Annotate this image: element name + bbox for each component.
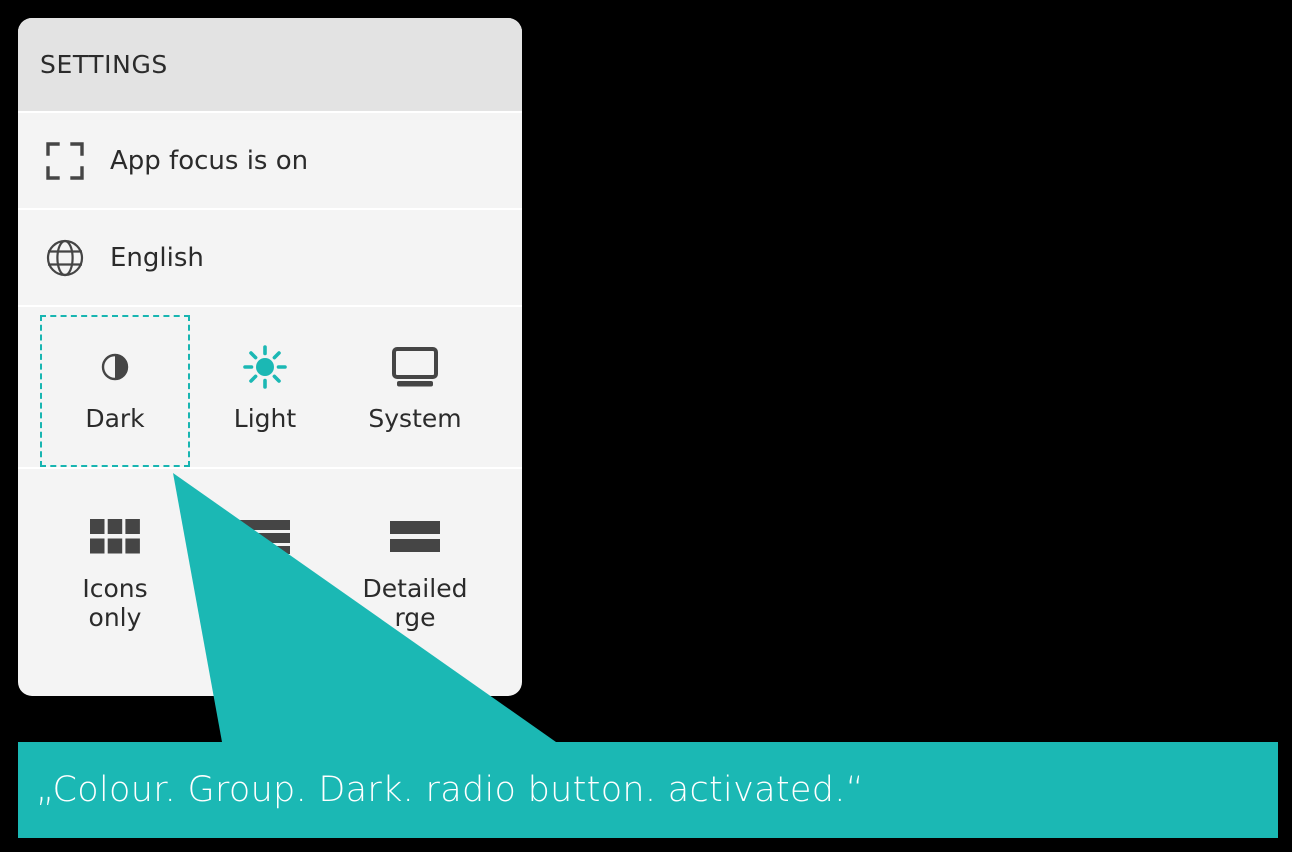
radio-option-light-label: Light — [234, 405, 296, 434]
setting-row-app-focus-label: App focus is on — [110, 146, 308, 176]
radio-option-dark[interactable]: Dark — [40, 315, 190, 467]
moon-icon — [97, 339, 133, 395]
radio-option-dark-label: Dark — [85, 405, 144, 434]
setting-row-language[interactable]: English — [18, 210, 522, 305]
radio-option-light[interactable]: Light — [190, 315, 340, 467]
setting-row-language-label: English — [110, 243, 204, 273]
radio-option-icons-only[interactable]: Icons only — [40, 485, 190, 659]
radio-option-system-label: System — [368, 405, 461, 434]
focus-frame-icon — [42, 138, 88, 184]
sun-icon — [242, 339, 288, 395]
radio-option-icons-only-label: Icons only — [82, 575, 147, 633]
monitor-icon — [390, 339, 440, 395]
screen-reader-caption-text: „Colour. Group. Dark. radio button. acti… — [36, 770, 864, 810]
screen-reader-caption-bar: „Colour. Group. Dark. radio button. acti… — [18, 742, 1278, 838]
panel-header: SETTINGS — [18, 18, 522, 111]
radio-option-detailed[interactable]: Detailed rge — [340, 485, 490, 659]
settings-panel: SETTINGS App focus is on — [18, 18, 522, 696]
globe-icon — [42, 235, 88, 281]
rows-icon — [389, 509, 441, 565]
colour-radio-group: Dark Light — [18, 307, 522, 467]
page-title: SETTINGS — [40, 50, 168, 79]
radio-option-middle[interactable] — [190, 485, 340, 659]
grid-icon — [89, 509, 141, 565]
setting-row-app-focus[interactable]: App focus is on — [18, 113, 522, 208]
layout-radio-group: Icons only — [18, 469, 522, 659]
radio-option-detailed-label: Detailed rge — [363, 575, 468, 633]
radio-option-system[interactable]: System — [340, 315, 490, 467]
list-icon — [239, 509, 291, 565]
